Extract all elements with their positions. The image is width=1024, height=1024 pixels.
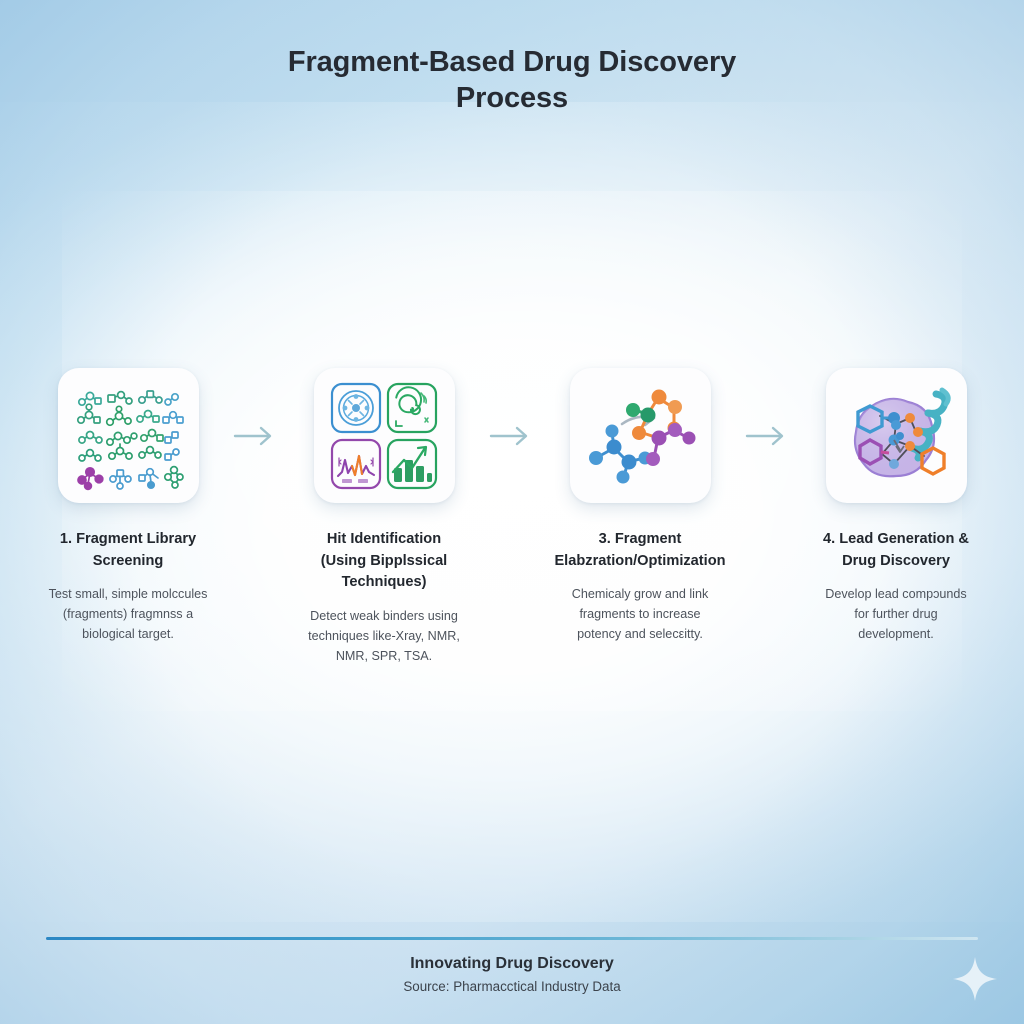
footer-source: Source: Pharmacctical Industry Data [0,977,1024,997]
step-1-title-line1: 1. Fragment Library [28,529,228,551]
step-2-icon-card[interactable] [314,368,455,503]
step-2-title-line1: Hit Identification [284,529,484,551]
step-3-title-line2: Elabzration/Optimization [540,551,740,573]
footer: Innovating Drug Discovery Source: Pharma… [0,952,1024,997]
spr-spiral-subicon [388,384,436,432]
fragment-library-grid-icon [72,380,184,492]
arrow-step2-to-step3 [482,368,542,503]
step-3-title-line1: 3. Fragment [540,529,740,551]
process-step-4[interactable]: 4. Lead Generation & Drug Discovery Deve… [798,368,994,645]
step-4-desc-line3: development. [798,625,994,645]
sparkle-icon [952,956,998,1002]
page-title-line2: Process [0,80,1024,116]
step-3-description: Chemicaly grow and link fragments to inc… [542,585,738,645]
nmr-spectrum-subicon [332,440,380,488]
elaborated-fragment-multicolor [626,389,696,466]
step-4-icon-card[interactable] [826,368,967,503]
step-1-desc-line1: Test small, simple molccules [30,585,226,605]
arrow-step1-to-step2 [226,368,286,503]
step-4-desc-line1: Develop lead compɔunds [798,585,994,605]
results-barchart-subicon [388,440,436,488]
page-title: Fragment-Based Drug Discovery Process [0,44,1024,117]
step-1-desc-line2: (fragments) fragmnss a [30,605,226,625]
step-1-title: 1. Fragment Library Screening [28,529,228,572]
step-2-title: Hit Identification (Using Bipplssical Te… [284,529,484,594]
step-4-description: Develop lead compɔunds for further drug … [798,585,994,645]
protein-ligand-complex-icon [838,380,954,492]
step-4-title-line1: 4. Lead Generation & [796,529,996,551]
step-2-desc-line3: NMR, SPR, TSA. [286,647,482,667]
process-step-3[interactable]: 3. Fragment Elabzration/Optimization Che… [542,368,738,645]
step-2-description: Detect weak binders using techniques lik… [286,607,482,667]
arrow-step3-to-step4 [738,368,798,503]
biophysical-techniques-quad-icon [328,380,440,492]
step-1-desc-line3: biological target. [30,625,226,645]
step-1-description: Test small, simple molccules (fragments)… [30,585,226,645]
step-4-title: 4. Lead Generation & Drug Discovery [796,529,996,572]
step-4-title-line2: Drug Discovery [796,551,996,573]
step-2-title-line2: (Using Bipplssical Techniques) [284,551,484,594]
step-3-desc-line1: Chemicaly grow and link [542,585,738,605]
process-steps-row: 1. Fragment Library Screening Test small… [0,368,1024,666]
step-1-icon-card[interactable] [58,368,199,503]
process-step-1[interactable]: 1. Fragment Library Screening Test small… [30,368,226,645]
step-4-desc-line2: for further drug [798,605,994,625]
footer-tagline: Innovating Drug Discovery [0,952,1024,976]
step-3-desc-line3: potency and selecεitty. [542,625,738,645]
step-3-icon-card[interactable] [570,368,711,503]
infographic-canvas: Fragment-Based Drug Discovery Process [0,0,1024,1024]
footer-divider [46,937,978,940]
xray-plate-subicon [332,384,380,432]
page-title-line1: Fragment-Based Drug Discovery [0,44,1024,80]
process-step-2[interactable]: Hit Identification (Using Bipplssical Te… [286,368,482,666]
step-3-title: 3. Fragment Elabzration/Optimization [540,529,740,572]
fragment-growing-molecule-icon [582,380,698,492]
step-1-title-line2: Screening [28,551,228,573]
step-3-desc-line2: fragments to increase [542,605,738,625]
step-2-desc-line1: Detect weak binders using [286,607,482,627]
step-2-desc-line2: techniques like-Xray, NMR, [286,627,482,647]
